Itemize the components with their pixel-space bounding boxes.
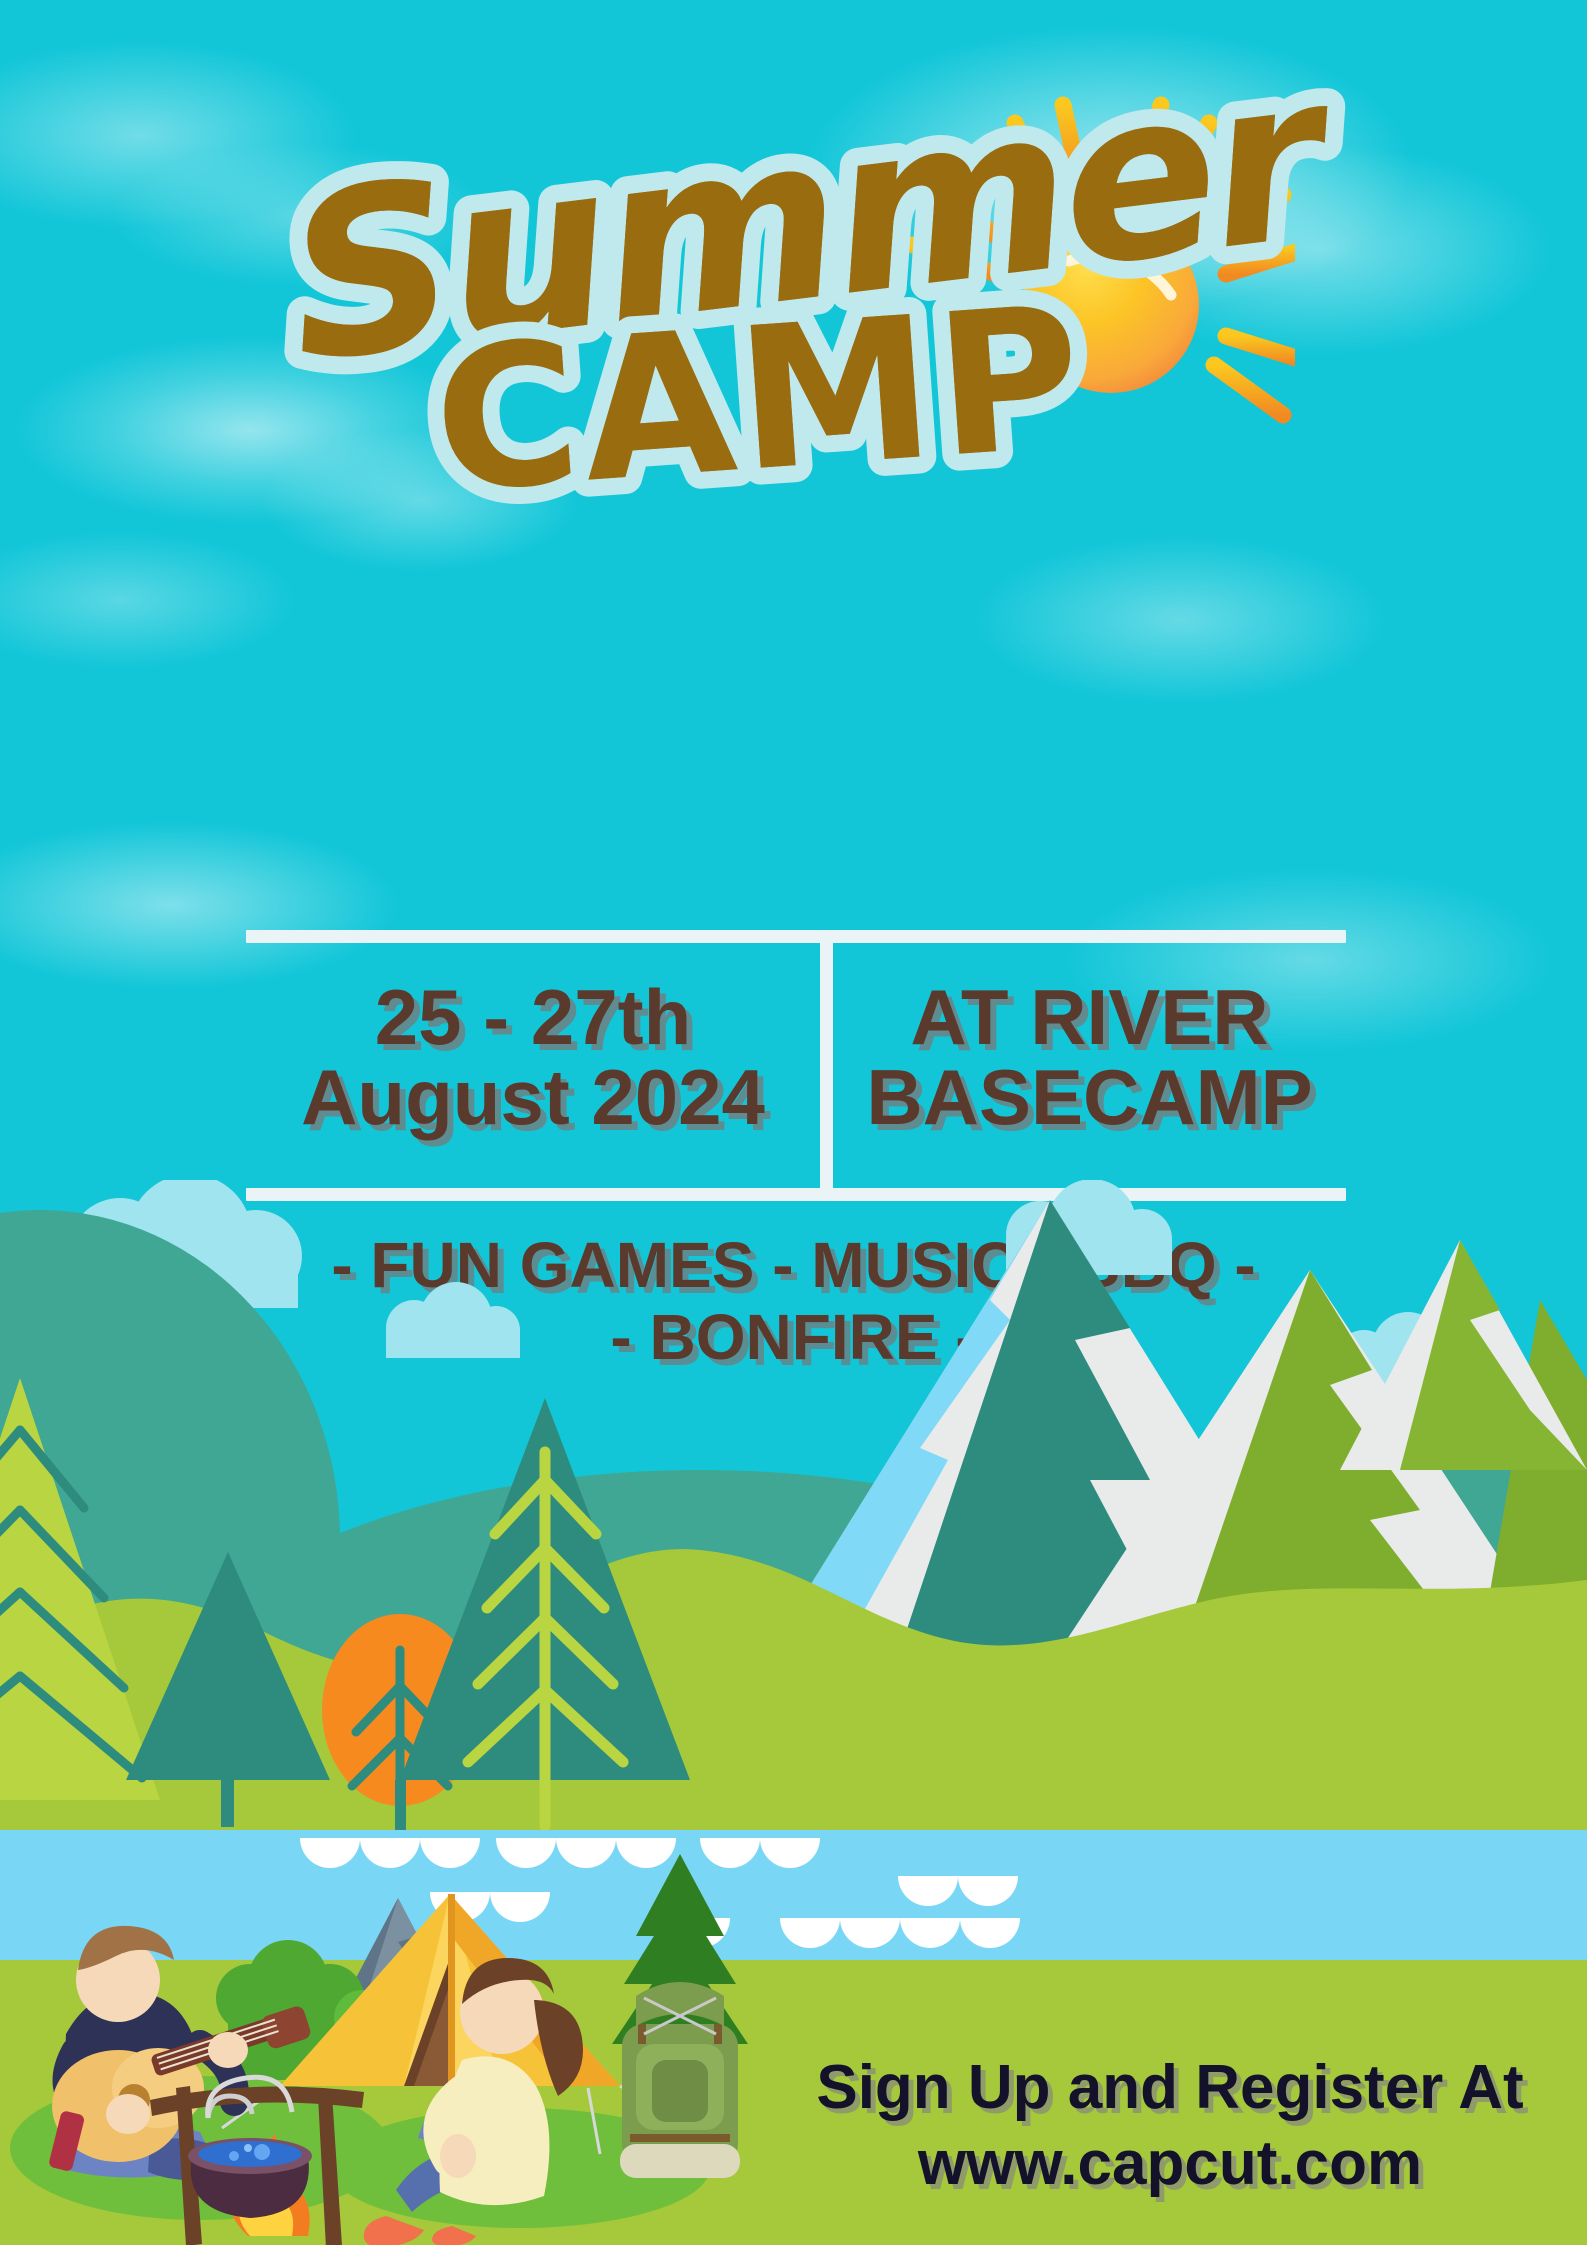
info-rule-divider [820, 934, 833, 1192]
info-rule-top [246, 930, 1346, 943]
landscape-illustration [0, 1180, 1587, 1830]
dates-line-1: 25 - 27th [246, 978, 820, 1058]
event-location: AT RIVER BASECAMP [833, 978, 1346, 1137]
signup-line-1: Sign Up and Register At [760, 2050, 1580, 2126]
signup-cta[interactable]: Sign Up and Register At www.capcut.com [760, 2050, 1580, 2201]
sun-icon [875, 55, 1295, 445]
campfire-icon [150, 2077, 364, 2245]
location-line-1: AT RIVER [833, 978, 1346, 1058]
summer-camp-poster: Summer Summer CAMP CAMP 25 - 27th August… [0, 0, 1587, 2245]
event-dates: 25 - 27th August 2024 [246, 978, 820, 1137]
camping-scene [0, 1838, 790, 2245]
dates-line-2: August 2024 [246, 1058, 820, 1138]
location-line-2: BASECAMP [833, 1058, 1346, 1138]
backpack-icon [620, 1982, 740, 2178]
signup-url[interactable]: www.capcut.com [760, 2126, 1580, 2202]
